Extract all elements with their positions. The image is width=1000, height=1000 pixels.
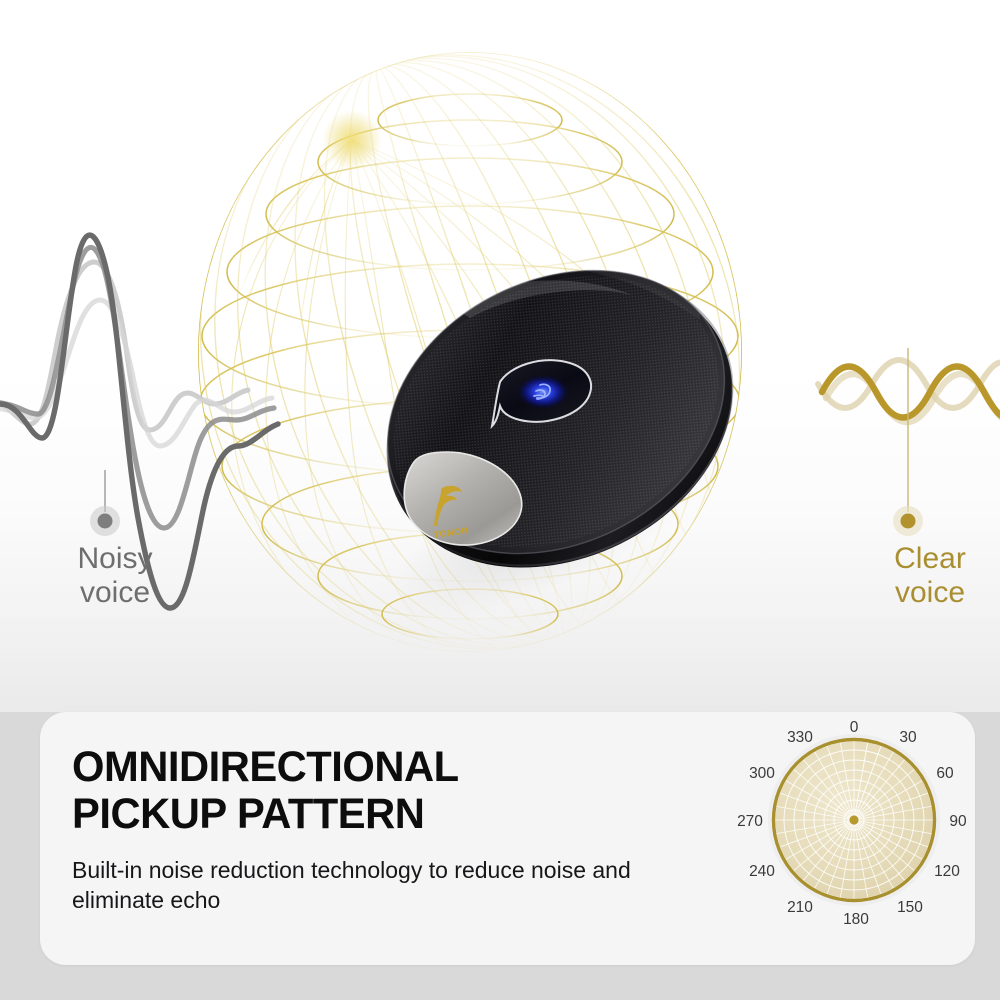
polar-tick-90: 90: [949, 813, 967, 830]
clear-waveform: [818, 360, 1000, 422]
clear-marker-dot: [901, 514, 916, 529]
polar-tick-330: 330: [787, 729, 813, 746]
polar-pattern-chart: 0 30 60 90 120 150 180 210 240 270 300 3…: [700, 712, 975, 965]
headline-line2: PICKUP PATTERN: [72, 791, 673, 838]
polar-tick-270: 270: [737, 813, 763, 830]
globe-pole-glow: [322, 110, 382, 170]
clear-voice-label: Clear voice: [855, 542, 1000, 610]
polar-center-dot: [849, 815, 858, 824]
feature-subcopy: Built-in noise reduction technology to r…: [72, 855, 672, 916]
polar-tick-120: 120: [934, 863, 960, 880]
polar-tick-0: 0: [850, 719, 859, 736]
headline-line1: OMNIDIRECTIONAL: [72, 743, 459, 791]
feature-card: OMNIDIRECTIONAL PICKUP PATTERN Built-in …: [40, 712, 975, 965]
noisy-voice-label-line1: Noisy: [40, 542, 190, 576]
hero-section: TONOR Noisy voi: [0, 0, 1000, 712]
clear-voice-label-line1: Clear: [855, 542, 1000, 576]
polar-tick-210: 210: [787, 899, 813, 916]
feature-card-text: OMNIDIRECTIONAL PICKUP PATTERN Built-in …: [72, 744, 692, 915]
polar-tick-240: 240: [749, 863, 775, 880]
polar-tick-300: 300: [749, 765, 775, 782]
clear-voice-label-line2: voice: [855, 576, 1000, 610]
conference-microphone-device: TONOR: [339, 216, 782, 657]
noisy-leader: [90, 470, 120, 536]
polar-tick-30: 30: [899, 729, 917, 746]
product-feature-image: TONOR Noisy voi: [0, 0, 1000, 1000]
mic-button-glow: [517, 375, 569, 409]
noisy-marker-dot: [98, 514, 113, 529]
polar-tick-150: 150: [897, 899, 923, 916]
polar-tick-180: 180: [843, 911, 869, 928]
polar-tick-60: 60: [936, 765, 954, 782]
noisy-voice-label-line2: voice: [40, 576, 190, 610]
noisy-voice-label: Noisy voice: [40, 542, 190, 610]
polar-plot-svg: 0 30 60 90 120 150 180 210 240 270 300 3…: [700, 712, 975, 965]
page-title: OMNIDIRECTIONAL PICKUP PATTERN: [72, 744, 673, 839]
